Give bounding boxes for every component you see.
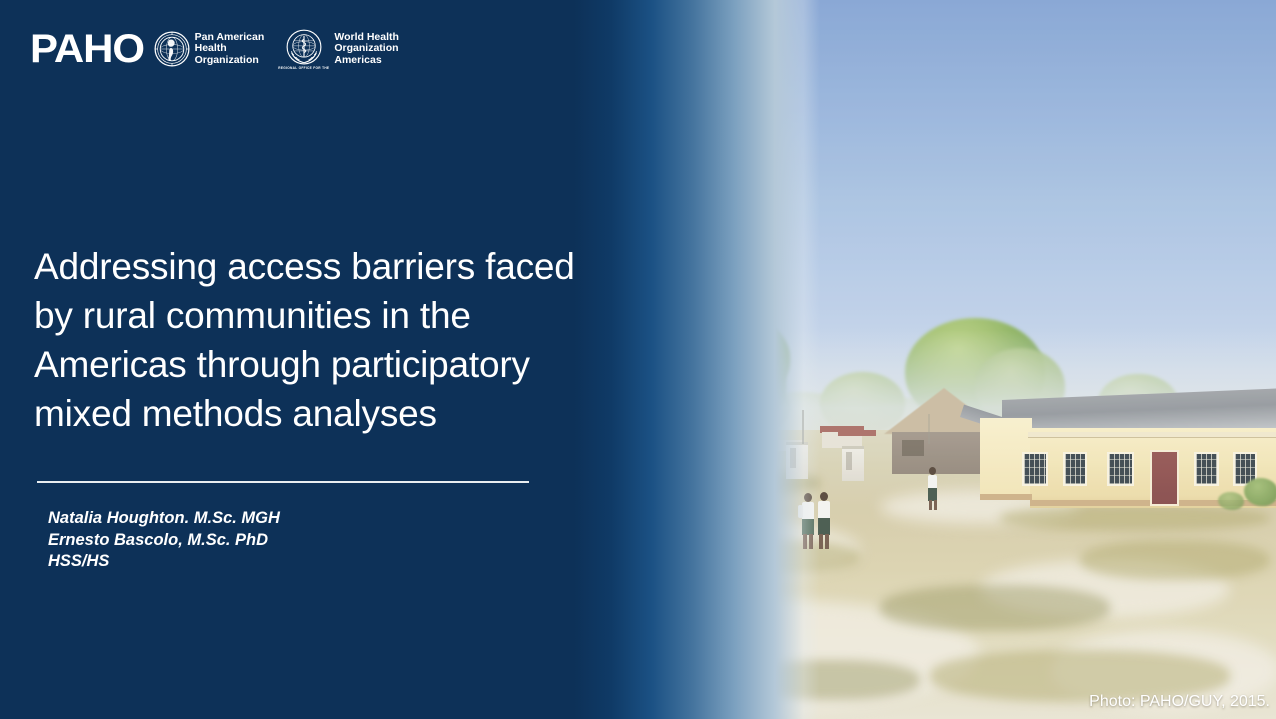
pan-american-health-organization-lockup: Pan American Health Organization <box>154 31 265 67</box>
author-line-2: Ernesto Bascolo, M.Sc. PhD <box>48 530 280 552</box>
title-slide: PAHO <box>0 0 1276 719</box>
title-divider-rule <box>37 481 529 483</box>
author-byline: Natalia Houghton. M.Sc. MGH Ernesto Basc… <box>48 508 280 573</box>
author-line-1: Natalia Houghton. M.Sc. MGH <box>48 508 280 530</box>
who-emblem-icon <box>286 29 322 65</box>
who-lockup-text: World Health Organization Americas <box>334 32 399 67</box>
paho-who-logo-lockup: PAHO <box>30 27 399 71</box>
photo-credit: Photo: PAHO/GUY, 2015. <box>1089 693 1270 711</box>
paho-name-line-1: Pan American <box>195 31 265 43</box>
paho-wordmark: PAHO <box>30 29 144 69</box>
slide-title: Addressing access barriers faced by rura… <box>34 242 609 438</box>
author-line-3: HSS/HS <box>48 551 280 573</box>
who-name-line-2: Organization <box>334 42 398 54</box>
who-regional-office-subtitle: REGIONAL OFFICE FOR THE <box>278 66 329 70</box>
paho-globe-emblem-icon <box>154 31 190 67</box>
paho-name-line-3: Organization <box>195 54 259 66</box>
paho-name-line-2: Health <box>195 42 227 54</box>
who-name-line-1: World Health <box>334 31 399 43</box>
slide-content: PAHO <box>0 0 1276 719</box>
who-region-label: Americas <box>334 54 381 66</box>
who-emblem-wrap: REGIONAL OFFICE FOR THE <box>278 29 329 70</box>
world-health-organization-lockup: REGIONAL OFFICE FOR THE World Health Org… <box>278 29 399 70</box>
paho-lockup-text: Pan American Health Organization <box>195 32 265 67</box>
